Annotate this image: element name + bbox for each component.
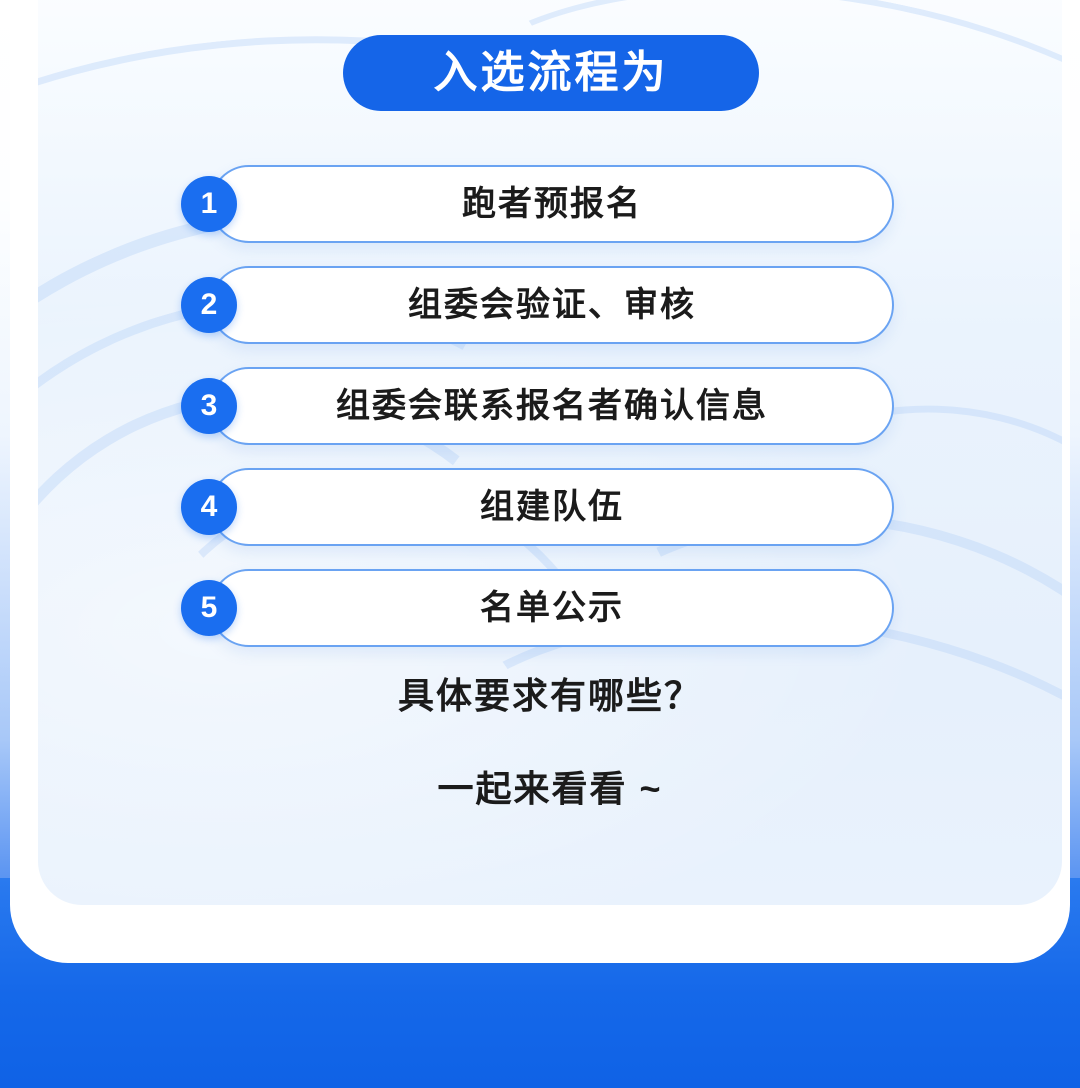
step-number: 2 [201,290,218,320]
step-pill: 组委会联系报名者确认信息 [210,367,894,445]
step-label: 组委会联系报名者确认信息 [336,389,768,423]
step-pill: 名单公示 [210,569,894,647]
step-pill: 跑者预报名 [210,165,894,243]
step-item-3: 组委会联系报名者确认信息 3 [38,367,1062,445]
step-pill: 组建队伍 [210,468,894,546]
step-label: 跑者预报名 [462,187,642,221]
step-list: 跑者预报名 1 组委会验证、审核 2 组委会联系报名 [38,165,1062,670]
step-label: 名单公示 [480,591,624,625]
step-item-5: 名单公示 5 [38,569,1062,647]
poster-page: 入选流程为 跑者预报名 1 组委会验证、审核 2 [0,0,1080,1088]
footer-question: 具体要求有哪些？ [38,678,1062,714]
step-number-badge: 1 [181,176,237,232]
step-item-4: 组建队伍 4 [38,468,1062,546]
step-number: 4 [201,492,218,522]
step-label: 组建队伍 [480,490,624,524]
footer-text-block: 具体要求有哪些？ 一起来看看 ~ [38,678,1062,807]
step-item-1: 跑者预报名 1 [38,165,1062,243]
step-number: 3 [201,391,218,421]
step-number-badge: 3 [181,378,237,434]
content-card: 入选流程为 跑者预报名 1 组委会验证、审核 2 [38,0,1062,905]
page-title: 入选流程为 [434,51,669,95]
step-number-badge: 4 [181,479,237,535]
step-label: 组委会验证、审核 [408,288,696,322]
step-number: 1 [201,189,218,219]
card-white-frame: 入选流程为 跑者预报名 1 组委会验证、审核 2 [10,0,1070,963]
step-pill: 组委会验证、审核 [210,266,894,344]
step-number-badge: 2 [181,277,237,333]
step-number: 5 [201,593,218,623]
step-number-badge: 5 [181,580,237,636]
title-banner: 入选流程为 [343,35,759,111]
step-item-2: 组委会验证、审核 2 [38,266,1062,344]
footer-invite: 一起来看看 ~ [38,771,1062,807]
